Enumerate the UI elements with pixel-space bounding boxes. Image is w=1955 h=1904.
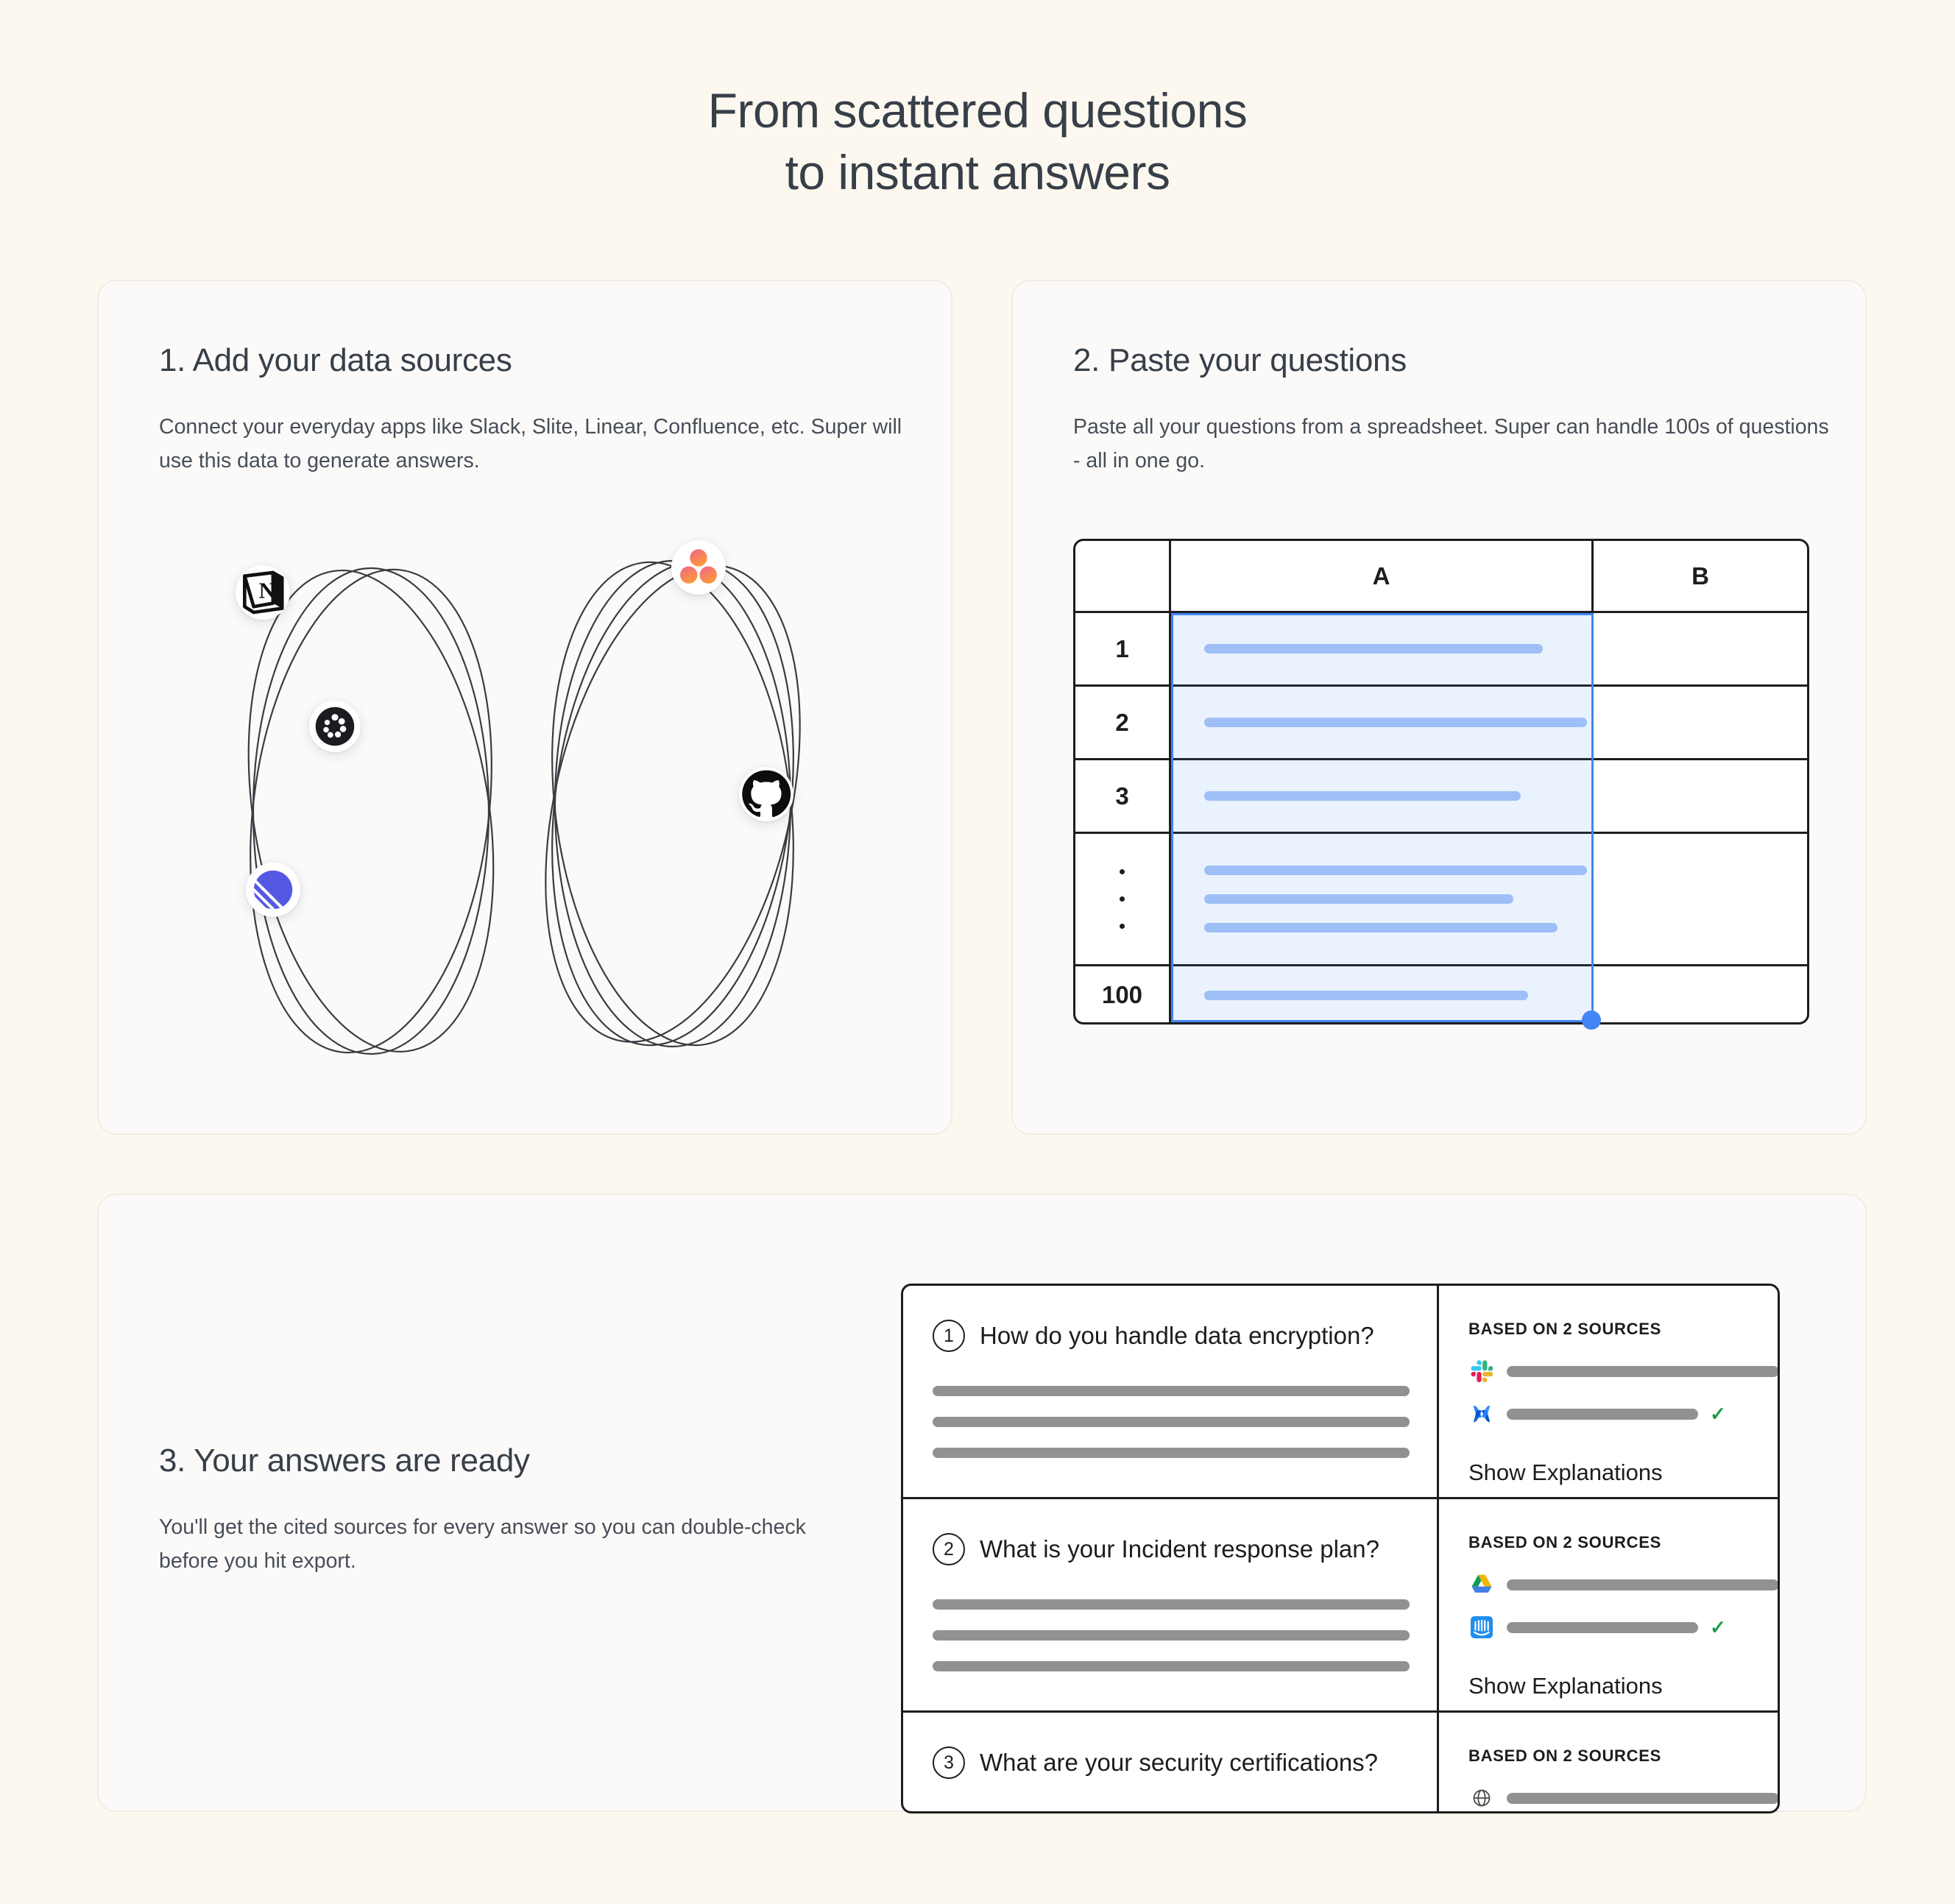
card-3-title: 3. Your answers are ready [159,1443,530,1479]
row-header-3[interactable]: 3 [1075,760,1171,834]
show-explanations-button[interactable]: Show Explanations [1468,1673,1780,1699]
source-item[interactable]: ✓ [1468,1571,1780,1598]
cell-b-ellipsis[interactable] [1594,834,1807,966]
source-item[interactable]: ✓ [1468,1358,1780,1384]
answer-sources-cell: BASED ON 2 SOURCES ✓ [1439,1713,1780,1813]
answer-placeholder-lines [933,1386,1407,1458]
question-header: 3 What are your security certifications? [933,1746,1407,1779]
notion-glyph: N [236,565,290,620]
sources-label: BASED ON 2 SOURCES [1468,1320,1780,1339]
question-header: 1 How do you handle data encryption? [933,1320,1407,1352]
cell-a1[interactable] [1171,613,1594,687]
source-item[interactable]: ✓ [1468,1401,1780,1427]
answer-placeholder-lines [933,1813,1407,1813]
card-answers-ready: 3. Your answers are ready You'll get the… [97,1194,1867,1812]
linear-glyph [246,863,300,917]
question-header: 2 What is your Incident response plan? [933,1533,1407,1565]
source-verified-check-icon: ✓ [1710,1618,1726,1637]
cell-b100[interactable] [1594,966,1807,1024]
card-1-title: 1. Add your data sources [159,342,512,379]
answer-question-cell: 1 How do you handle data encryption? [903,1286,1439,1497]
answer-sources-cell: BASED ON 2 SOURCES [1439,1286,1780,1497]
answer-question-cell: 3 What are your security certifications? [903,1713,1439,1813]
page-title: From scattered questions to instant answ… [0,79,1955,204]
cell-b2[interactable] [1594,687,1807,760]
asana-glyph [671,540,726,595]
card-2-title: 2. Paste your questions [1073,342,1407,379]
slack-icon [1468,1358,1495,1384]
card-1-body: Connect your everyday apps like Slack, S… [159,410,910,478]
cell-a3[interactable] [1171,760,1594,834]
question-text: How do you handle data encryption? [980,1322,1374,1350]
intercom-icon [1468,1614,1495,1641]
cell-b3[interactable] [1594,760,1807,834]
card-paste-questions: 2. Paste your questions Paste all your q… [1011,280,1867,1135]
row-header-2[interactable]: 2 [1075,687,1171,760]
source-item[interactable]: ✓ [1468,1785,1780,1811]
column-header-a[interactable]: A [1171,541,1594,613]
card-2-body: Paste all your questions from a spreadsh… [1073,410,1831,478]
globe-icon [1468,1785,1495,1811]
page-title-line-1: From scattered questions [708,83,1248,138]
asana-icon[interactable] [671,540,726,595]
sources-list: ✓ [1468,1785,1780,1811]
answer-row: 2 What is your Incident response plan? B… [903,1499,1778,1713]
github-icon[interactable] [739,767,793,821]
source-item[interactable]: ✓ [1468,1614,1780,1641]
answer-row: 3 What are your security certifications?… [903,1713,1778,1813]
answer-sources-cell: BASED ON 2 SOURCES ✓ [1439,1499,1780,1710]
page-root: From scattered questions to instant answ… [0,0,1955,1904]
spreadsheet-corner-cell [1075,541,1171,613]
answers-panel: 1 How do you handle data encryption? BAS… [901,1284,1780,1813]
answer-row: 1 How do you handle data encryption? BAS… [903,1286,1778,1499]
google-drive-icon [1468,1571,1495,1598]
svg-text:N: N [259,578,275,604]
sources-label: BASED ON 2 SOURCES [1468,1533,1780,1552]
cell-a100[interactable] [1171,966,1594,1024]
card-3-body: You'll get the cited sources for every a… [159,1510,821,1578]
card-add-data-sources: 1. Add your data sources Connect your ev… [97,280,952,1135]
slite-icon[interactable] [309,701,361,752]
cell-a-ellipsis[interactable] [1171,834,1594,966]
slite-glyph [309,701,361,752]
sources-list: ✓ ✓ [1468,1358,1780,1427]
answer-question-cell: 2 What is your Incident response plan? [903,1499,1439,1710]
atlassian-icon [1468,1401,1495,1427]
sources-label: BASED ON 2 SOURCES [1468,1746,1780,1766]
notion-icon[interactable]: N [236,565,290,620]
question-number: 2 [933,1533,965,1565]
cell-b1[interactable] [1594,613,1807,687]
cell-a2[interactable] [1171,687,1594,760]
row-header-ellipsis [1075,834,1171,966]
orbit-illustration: N [128,524,923,1098]
column-header-b[interactable]: B [1594,541,1807,613]
spreadsheet-grid: A B 1 2 3 [1075,541,1807,1022]
github-glyph [739,767,793,821]
linear-icon[interactable] [246,863,300,917]
page-title-line-2: to instant answers [0,141,1955,203]
question-number: 1 [933,1320,965,1352]
sources-list: ✓ [1468,1571,1780,1641]
question-text: What are your security certifications? [980,1749,1378,1777]
show-explanations-button[interactable]: Show Explanations [1468,1459,1780,1486]
row-header-1[interactable]: 1 [1075,613,1171,687]
question-text: What is your Incident response plan? [980,1535,1379,1563]
spreadsheet[interactable]: A B 1 2 3 [1073,539,1809,1024]
source-verified-check-icon: ✓ [1710,1404,1726,1423]
answer-placeholder-lines [933,1599,1407,1671]
question-number: 3 [933,1746,965,1779]
row-header-100[interactable]: 100 [1075,966,1171,1024]
